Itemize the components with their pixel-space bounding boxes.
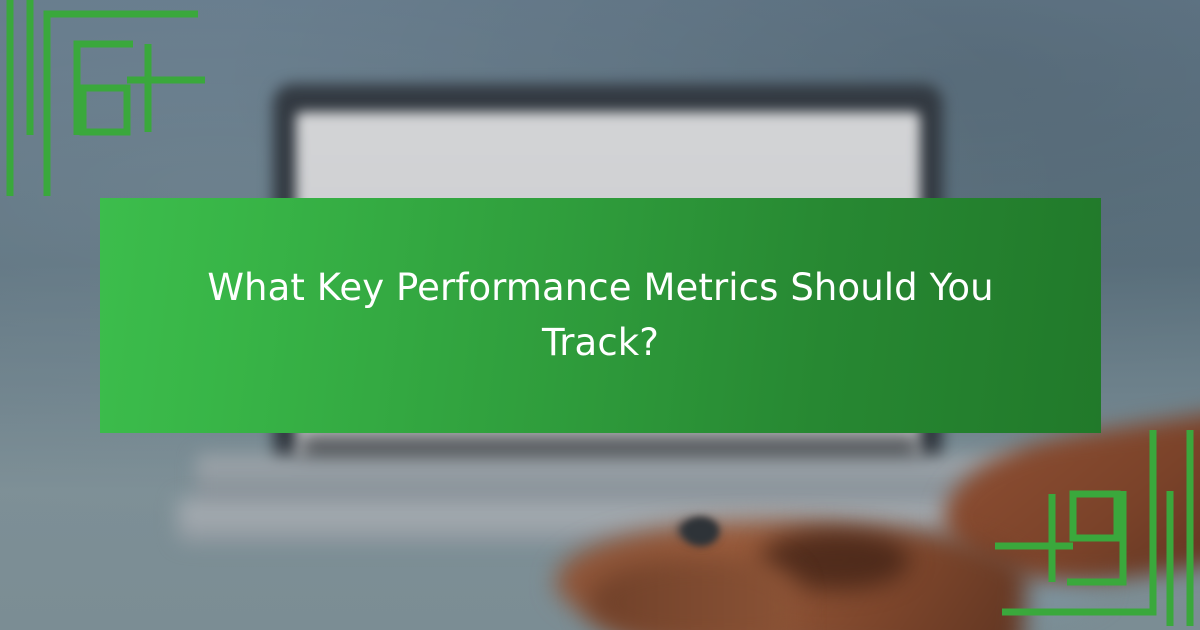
page-title: What Key Performance Metrics Should You … — [190, 261, 1011, 371]
title-banner: What Key Performance Metrics Should You … — [100, 198, 1101, 433]
keyboard-dark-accent — [684, 518, 718, 546]
share-card-canvas: What Key Performance Metrics Should You … — [0, 0, 1200, 630]
